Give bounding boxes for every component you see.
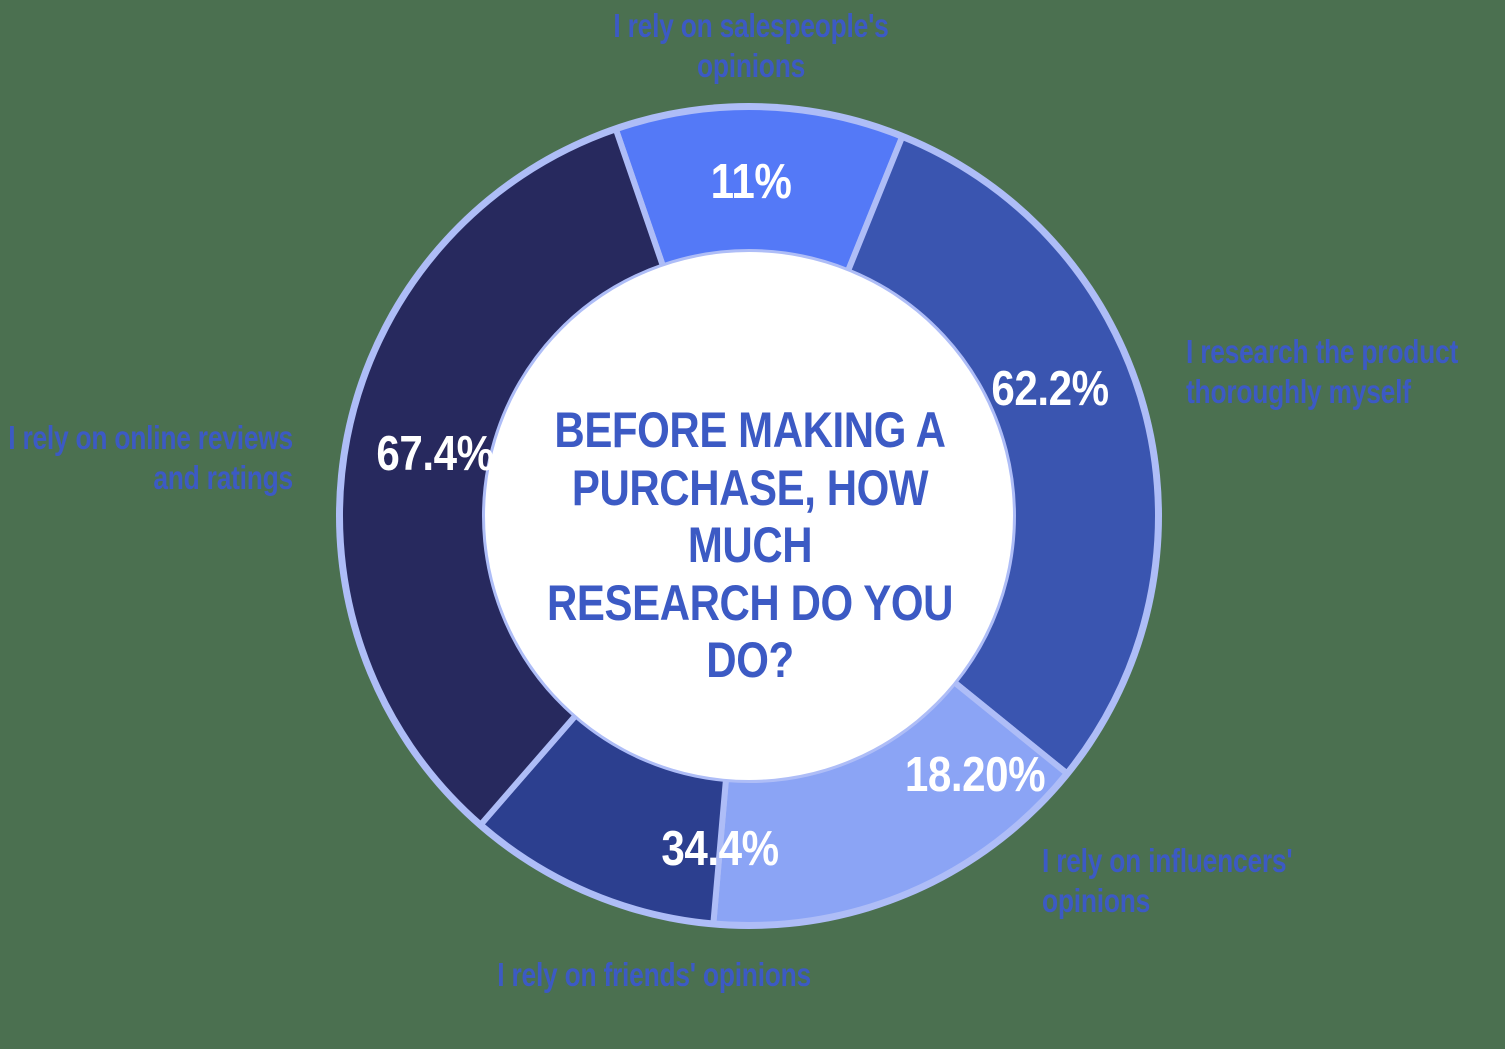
slice-label-friends: I rely on friends' opinions	[363, 955, 811, 995]
slice-label-influencers: I rely on influencers' opinions	[1042, 841, 1362, 922]
slice-value-online-reviews: 67.4%	[319, 430, 551, 479]
slice-value-influencers: 18.20%	[859, 751, 1091, 800]
slice-label-online-reviews: I rely on online reviews and ratings	[0, 418, 293, 499]
donut-slices	[336, 103, 1162, 929]
slice-label-self-research: I research the product thoroughly myself	[1186, 332, 1505, 413]
slice-value-salespeople: 11%	[678, 158, 824, 207]
slice-label-salespeople: I rely on salespeople's opinions	[559, 6, 943, 87]
slice-value-friends: 34.4%	[604, 825, 836, 874]
chart-canvas: BEFORE MAKING A PURCHASE, HOW MUCH RESEA…	[0, 0, 1505, 1049]
donut-center-hole	[485, 252, 1013, 780]
slice-value-self-research: 62.2%	[947, 365, 1153, 414]
